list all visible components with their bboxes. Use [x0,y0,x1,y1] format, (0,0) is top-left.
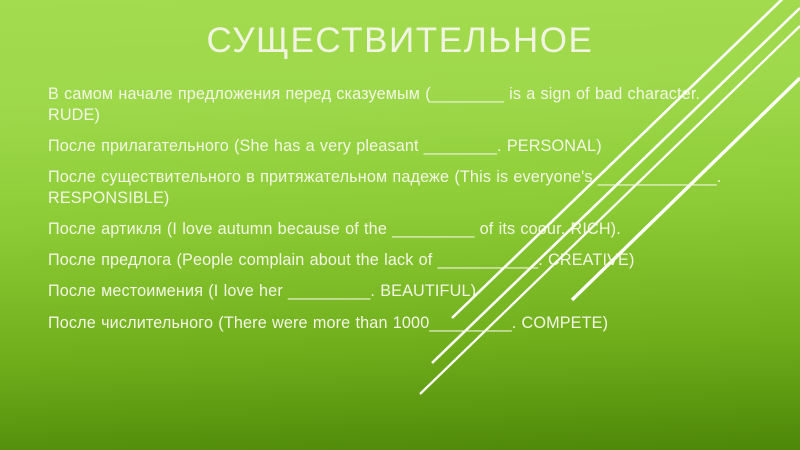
list-item: В самом начале предложения перед сказуем… [48,84,752,126]
list-item: После местоимения (I love her _________.… [48,281,752,302]
list-item: После прилагательного (She has a very pl… [48,136,752,157]
list-item: После числительного (There were more tha… [48,313,752,334]
list-item: После артикля (I love autumn because of … [48,219,752,240]
presentation-slide: СУЩЕСТВИТЕЛЬНОЕ В самом начале предложен… [0,0,800,450]
list-item: После предлога (People complain about th… [48,250,752,271]
slide-body: В самом начале предложения перед сказуем… [48,84,752,334]
page-title: СУЩЕСТВИТЕЛЬНОЕ [0,22,800,61]
list-item: После существительного в притяжательном … [48,167,752,209]
